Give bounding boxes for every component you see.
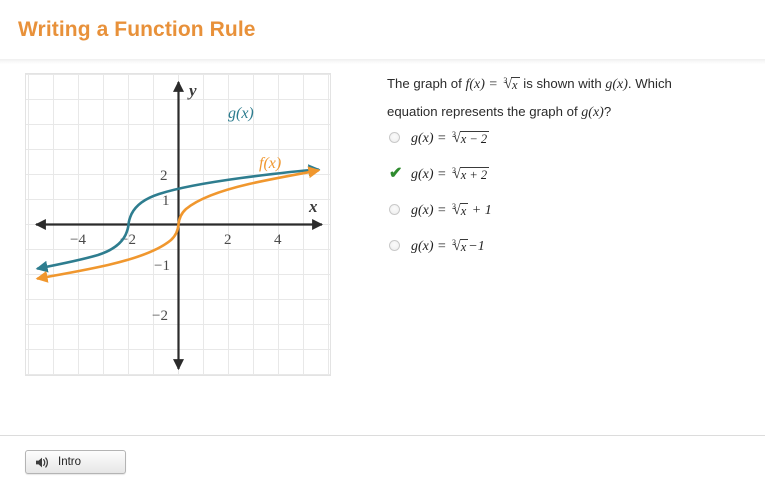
radical-index: 3 bbox=[452, 166, 456, 175]
option-cube-root: 3√x bbox=[450, 239, 468, 255]
option-cube-root: 3√x + 2 bbox=[450, 167, 489, 183]
svg-text:2: 2 bbox=[224, 232, 232, 248]
option-lhs: g(x) bbox=[411, 131, 434, 146]
radicand: x bbox=[460, 239, 469, 254]
y-axis-label: y bbox=[187, 81, 197, 100]
svg-text:−1: −1 bbox=[154, 258, 170, 274]
option-lhs: g(x) bbox=[411, 239, 434, 254]
option-equals: = bbox=[434, 203, 450, 218]
cube-root-x: 3√x bbox=[501, 71, 519, 99]
intro-audio-button[interactable]: Intro bbox=[25, 450, 126, 474]
question-part-4: equation represents the graph of bbox=[387, 104, 581, 119]
option-suffix: −1 bbox=[468, 239, 484, 254]
question-part-3: . Which bbox=[628, 76, 672, 91]
option-label-1: g(x) = 3√x − 2 bbox=[411, 129, 489, 147]
answer-option-4[interactable]: g(x) = 3√x−1 bbox=[389, 237, 719, 273]
answer-option-2[interactable]: ✔ g(x) = 3√x + 2 bbox=[389, 165, 719, 201]
option-label-3: g(x) = 3√x + 1 bbox=[411, 201, 492, 219]
function-fx: f(x) bbox=[465, 77, 484, 92]
option-equals: = bbox=[434, 131, 450, 146]
radical-index: 3 bbox=[503, 76, 507, 85]
option-label-4: g(x) = 3√x−1 bbox=[411, 237, 485, 255]
answer-options-list: g(x) = 3√x − 2 ✔ g(x) = 3√x + 2 g(x) = 3… bbox=[389, 129, 719, 273]
radio-button-icon[interactable] bbox=[389, 132, 400, 143]
radicand: x − 2 bbox=[460, 131, 489, 146]
svg-text:4: 4 bbox=[274, 232, 282, 248]
option-equals: = bbox=[434, 167, 450, 182]
option-marker-2[interactable]: ✔ bbox=[389, 165, 411, 180]
function-gx-1: g(x) bbox=[605, 77, 628, 92]
curve-label-gx: g(x) bbox=[228, 105, 254, 122]
answer-option-1[interactable]: g(x) = 3√x − 2 bbox=[389, 129, 719, 165]
radical-index: 3 bbox=[452, 238, 456, 247]
option-marker-3[interactable] bbox=[389, 201, 411, 215]
radio-button-icon[interactable] bbox=[389, 204, 400, 215]
footer-divider bbox=[0, 435, 765, 436]
equals-sign: = bbox=[485, 77, 501, 92]
option-suffix: + 1 bbox=[468, 203, 491, 218]
svg-text:2: 2 bbox=[160, 168, 168, 184]
option-cube-root: 3√x bbox=[450, 203, 468, 219]
option-lhs: g(x) bbox=[411, 167, 434, 182]
speaker-icon bbox=[35, 456, 50, 469]
curve-label-fx: f(x) bbox=[259, 155, 281, 172]
coordinate-plane-graph: y x −4 −2 2 4 2 1 −1 −2 g(x) f(x) bbox=[26, 74, 330, 375]
checkmark-icon: ✔ bbox=[389, 168, 402, 180]
option-cube-root: 3√x − 2 bbox=[450, 131, 489, 147]
question-text: The graph of f(x) = 3√x is shown with g(… bbox=[387, 71, 717, 126]
x-axis-label: x bbox=[308, 197, 318, 216]
svg-text:1: 1 bbox=[162, 193, 170, 209]
page-title: Writing a Function Rule bbox=[18, 18, 256, 42]
svg-text:−4: −4 bbox=[70, 232, 86, 248]
radio-button-icon[interactable] bbox=[389, 240, 400, 251]
graph-panel: y x −4 −2 2 4 2 1 −1 −2 g(x) f(x) bbox=[25, 73, 331, 376]
header-shadow-divider bbox=[0, 59, 765, 64]
option-equals: = bbox=[434, 239, 450, 254]
question-part-5: ? bbox=[604, 104, 611, 119]
question-column: The graph of f(x) = 3√x is shown with g(… bbox=[387, 71, 717, 126]
option-lhs: g(x) bbox=[411, 203, 434, 218]
page-header: Writing a Function Rule bbox=[0, 0, 765, 59]
option-label-2: g(x) = 3√x + 2 bbox=[411, 165, 489, 183]
option-marker-1[interactable] bbox=[389, 129, 411, 143]
question-part-1: The graph of bbox=[387, 76, 465, 91]
question-part-2: is shown with bbox=[520, 76, 606, 91]
intro-button-label: Intro bbox=[58, 456, 81, 468]
svg-text:−2: −2 bbox=[152, 308, 168, 324]
option-marker-4[interactable] bbox=[389, 237, 411, 251]
radicand: x + 2 bbox=[460, 167, 489, 182]
radical-index: 3 bbox=[452, 130, 456, 139]
radical-index: 3 bbox=[452, 202, 456, 211]
radicand: x bbox=[511, 77, 520, 92]
radicand: x bbox=[460, 203, 469, 218]
function-gx-2: g(x) bbox=[581, 105, 604, 120]
answer-option-3[interactable]: g(x) = 3√x + 1 bbox=[389, 201, 719, 237]
